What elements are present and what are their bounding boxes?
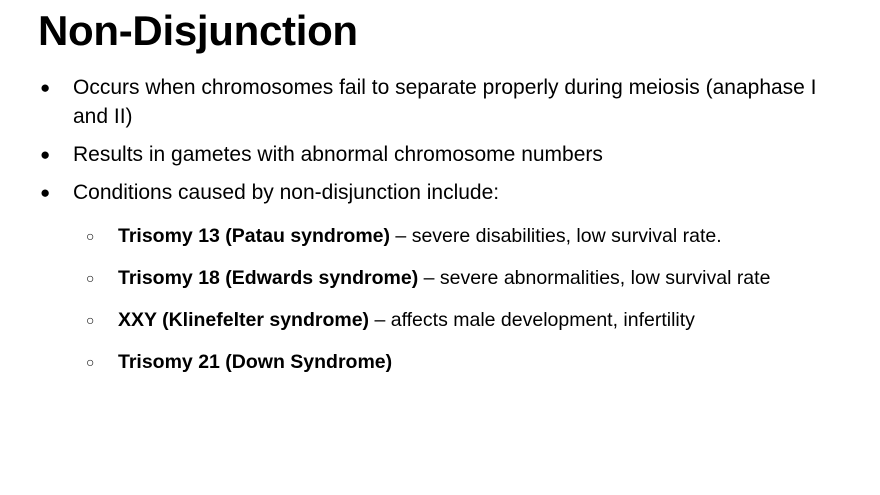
sub-list-item-description: – severe abnormalities, low survival rat… bbox=[418, 267, 770, 289]
sub-list-item: ○ Trisomy 21 (Down Syndrome) bbox=[0, 347, 880, 378]
list-item: ● Occurs when chromosomes fail to separa… bbox=[0, 73, 880, 131]
sub-list-item-description: – severe disabilities, low survival rate… bbox=[390, 225, 722, 247]
bullet-hollow-circle-icon: ○ bbox=[86, 347, 100, 378]
bullet-filled-circle-icon: ● bbox=[40, 73, 54, 102]
list-item-label: Occurs when chromosomes fail to separate… bbox=[73, 76, 817, 128]
sub-list-item: ○ Trisomy 18 (Edwards syndrome) – severe… bbox=[0, 263, 880, 294]
list-item: ● Conditions caused by non-disjunction i… bbox=[0, 178, 880, 207]
bullet-hollow-circle-icon: ○ bbox=[86, 221, 100, 252]
bullet-filled-circle-icon: ● bbox=[40, 140, 54, 169]
sub-list-item-term: Trisomy 21 (Down Syndrome) bbox=[118, 351, 392, 373]
sub-list: ○ Trisomy 13 (Patau syndrome) – severe d… bbox=[0, 221, 880, 378]
sub-list-item: ○ XXY (Klinefelter syndrome) – affects m… bbox=[0, 305, 880, 336]
sub-list-item-term: XXY (Klinefelter syndrome) bbox=[118, 309, 369, 331]
list-item-label: Results in gametes with abnormal chromos… bbox=[73, 143, 603, 166]
sub-list-item-description: – affects male development, infertility bbox=[369, 309, 695, 331]
sub-list-item-term: Trisomy 13 (Patau syndrome) bbox=[118, 225, 390, 247]
slide-body-content: ● Occurs when chromosomes fail to separa… bbox=[0, 73, 880, 389]
slide-canvas: Non-Disjunction ● Occurs when chromosome… bbox=[0, 0, 880, 495]
sub-list-item-term: Trisomy 18 (Edwards syndrome) bbox=[118, 267, 418, 289]
sub-list-item: ○ Trisomy 13 (Patau syndrome) – severe d… bbox=[0, 221, 880, 252]
list-item: ● Results in gametes with abnormal chrom… bbox=[0, 140, 880, 169]
page-title: Non-Disjunction bbox=[38, 6, 358, 56]
bullet-filled-circle-icon: ● bbox=[40, 178, 54, 207]
list-item-label: Conditions caused by non-disjunction inc… bbox=[73, 181, 499, 204]
bullet-hollow-circle-icon: ○ bbox=[86, 263, 100, 294]
bullet-hollow-circle-icon: ○ bbox=[86, 305, 100, 336]
